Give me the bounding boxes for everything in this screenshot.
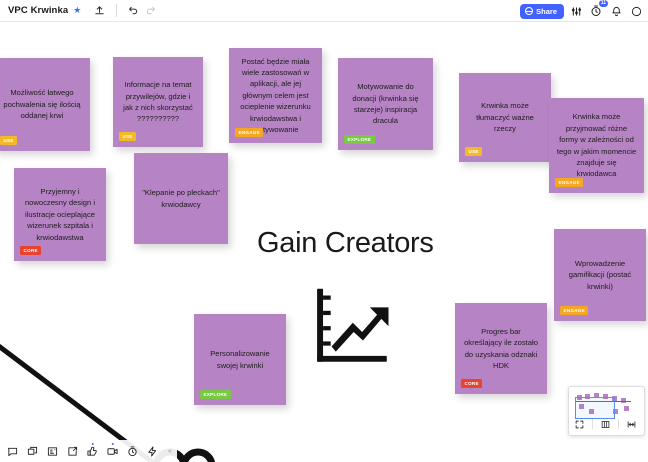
sticky-note[interactable]: Progres bar określający ile zostało do u… [455, 303, 547, 394]
sticky-note-tag[interactable]: EXPLORE [200, 390, 231, 399]
expand-icon[interactable] [572, 418, 587, 431]
upload-icon[interactable] [91, 2, 108, 19]
globe-icon [525, 7, 533, 15]
filter-icon[interactable] [568, 3, 584, 19]
sticky-note[interactable]: "Klepanie po pleckach" krwiodawcy [134, 153, 228, 244]
growth-chart-icon [312, 287, 397, 377]
sticky-note[interactable]: Postać będzie miała wiele zastosowań w a… [229, 48, 322, 143]
minimap-controls [569, 416, 641, 432]
redo-icon[interactable] [142, 2, 159, 19]
help-icon[interactable] [628, 3, 644, 19]
sticky-note-text: "Klepanie po pleckach" krwiodawcy [141, 187, 221, 210]
sticky-note[interactable]: Motywowanie do donacji (krwinka się star… [338, 58, 433, 150]
apps-icon[interactable] [45, 444, 60, 459]
timer-icon[interactable] [125, 444, 140, 459]
sticky-note-text: Krwinka może przyjmować różne formy w za… [556, 111, 637, 179]
bottom-toolbar: « [0, 440, 177, 462]
sticky-note[interactable]: Krwinka może przyjmować różne formy w za… [549, 98, 644, 193]
sticky-note-tag[interactable]: USE [465, 147, 482, 156]
sticky-note-text: Postać będzie miała wiele zastosowań w a… [236, 56, 315, 136]
topbar-right-group: Share 11 [520, 0, 644, 22]
top-toolbar: VPC Krwinka ★ Share [0, 0, 648, 22]
timer-badge: 11 [599, 0, 608, 7]
sticky-note-tag[interactable]: ENGAGE [235, 128, 263, 137]
sticky-note[interactable]: Możliwość łatwego pochwalenia się ilości… [0, 58, 90, 151]
sticky-note-tag[interactable]: CORE [20, 246, 41, 255]
sticky-note[interactable]: Personalizowanie swojej krwinkiEXPLORE [194, 314, 286, 405]
page-title[interactable]: Gain Creators [257, 227, 434, 260]
board-canvas[interactable]: Gain Creators Możliwość łatwego pochwale [0, 22, 648, 462]
minimap-divider [592, 419, 593, 429]
sticky-note[interactable]: Przyjemny i nowoczesny design i ilustrac… [14, 168, 106, 261]
board-title[interactable]: VPC Krwinka [8, 5, 68, 16]
timer-icon[interactable]: 11 [588, 3, 604, 19]
reactions-icon[interactable] [85, 444, 100, 459]
sticky-note-text: Wprowadzenie gamifikacji (postać krwinki… [561, 258, 639, 292]
star-icon[interactable]: ★ [73, 6, 81, 15]
bell-icon[interactable] [608, 3, 624, 19]
video-chat-dot [111, 443, 114, 446]
sticky-note-text: Personalizowanie swojej krwinki [201, 348, 279, 371]
frames-icon[interactable] [25, 444, 40, 459]
miro-board-app: VPC Krwinka ★ Share [0, 0, 648, 462]
sticky-note-text: Informacje na temat przywilejów, gdzie i… [120, 79, 196, 125]
sticky-note-tag[interactable]: ENGAGE [555, 178, 583, 187]
bolt-icon[interactable] [145, 444, 160, 459]
share-screen-icon[interactable] [65, 444, 80, 459]
sticky-note-tag[interactable]: ENGAGE [560, 306, 588, 315]
sticky-note[interactable]: Krwinka może tłumaczyć ważne rzeczyUSE [459, 73, 551, 162]
sticky-note-tag[interactable]: USE [0, 136, 17, 145]
fit-screen-icon[interactable] [624, 418, 639, 431]
sticky-note[interactable]: Informacje na temat przywilejów, gdzie i… [113, 57, 203, 147]
video-chat-icon[interactable] [105, 444, 120, 459]
sticky-note[interactable]: Wprowadzenie gamifikacji (postać krwinki… [554, 229, 646, 321]
undo-icon[interactable] [125, 2, 142, 19]
reactions-dot [91, 443, 94, 446]
sticky-note-text: Możliwość łatwego pochwalenia się ilości… [1, 87, 83, 121]
share-button[interactable]: Share [520, 4, 564, 19]
sticky-note-tag[interactable]: CORE [461, 379, 482, 388]
comment-icon[interactable] [5, 444, 20, 459]
sticky-note-tag[interactable]: USE [119, 132, 136, 141]
minimap-divider-2 [618, 419, 619, 429]
sticky-note-text: Krwinka może tłumaczyć ważne rzeczy [466, 100, 544, 134]
toolbar-divider [116, 4, 117, 17]
sticky-note-text: Przyjemny i nowoczesny design i ilustrac… [21, 186, 99, 243]
sticky-note-text: Progres bar określający ile zostało do u… [462, 326, 540, 372]
minimap-panel[interactable] [568, 386, 645, 436]
collapse-toolbar-button[interactable]: « [168, 448, 172, 455]
share-button-label: Share [536, 7, 557, 16]
sticky-note-text: Motywowanie do donacji (krwinka się star… [345, 81, 426, 127]
frames-icon[interactable] [598, 418, 613, 431]
sticky-note-tag[interactable]: EXPLORE [344, 135, 375, 144]
